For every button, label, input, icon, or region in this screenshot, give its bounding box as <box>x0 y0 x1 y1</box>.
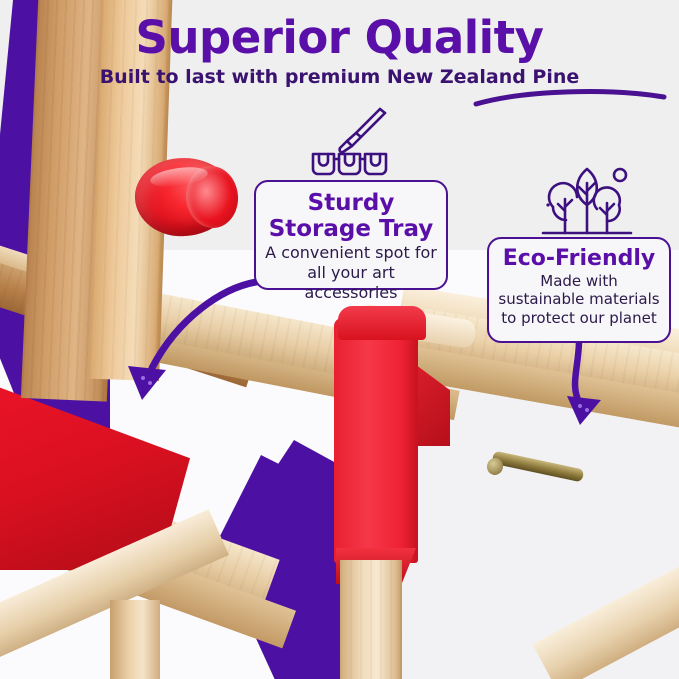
wooden-leg-left <box>110 600 160 679</box>
callout-title-sturdy-storage-tray: Sturdy Storage Tray <box>264 191 438 243</box>
page-subtitle: Built to last with premium New Zealand P… <box>0 66 679 88</box>
callout-description-eco-friendly: Made with sustainable materials to prote… <box>496 272 662 328</box>
product-infographic: Superior Quality Built to last with prem… <box>0 0 679 679</box>
page-title: Superior Quality <box>0 14 679 61</box>
callout-description-sturdy-storage-tray: A convenient spot for all your art acces… <box>264 243 438 303</box>
callout-sturdy-storage-tray[interactable]: Sturdy Storage Tray A convenient spot fo… <box>254 180 448 290</box>
wooden-leg-center <box>340 560 402 679</box>
paintbrush-and-paint-pots-icon <box>297 106 402 182</box>
red-clamp-bracket <box>334 318 418 563</box>
red-clamp-top <box>338 306 426 340</box>
three-trees-icon <box>541 163 633 243</box>
swoosh-underline-icon <box>470 86 670 108</box>
callout-eco-friendly[interactable]: Eco-Friendly Made with sustainable mater… <box>487 237 671 343</box>
callout-title-eco-friendly: Eco-Friendly <box>496 247 662 272</box>
